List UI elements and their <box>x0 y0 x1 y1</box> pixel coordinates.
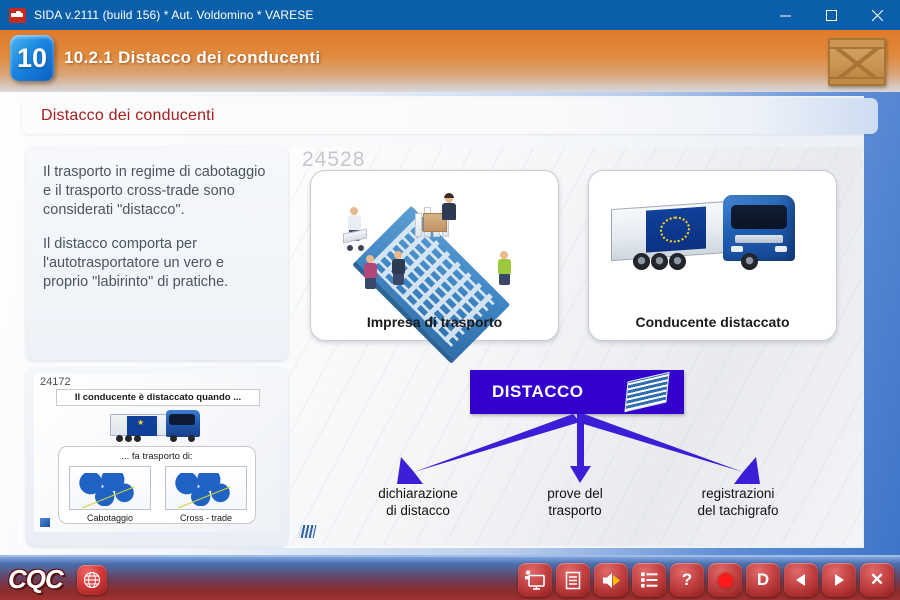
thumbnail-title: Il conducente è distaccato quando ... <box>56 389 260 406</box>
isometric-maze-office-icon <box>341 185 531 303</box>
thumbnail-slide[interactable]: 24172 Il conducente è distaccato quando … <box>34 374 280 532</box>
card-impresa-di-trasporto[interactable]: Impresa di trasporto <box>310 170 559 341</box>
section-title: Distacco dei conducenti <box>41 107 215 125</box>
index-list-button[interactable] <box>632 563 666 597</box>
record-dot-icon <box>718 573 733 588</box>
hand-cart-icon <box>343 231 371 251</box>
thumbnail-id: 24172 <box>40 376 71 388</box>
card-label: Conducente distaccato <box>589 314 836 330</box>
thumbnail-panel[interactable]: 24172 Il conducente è distaccato quando … <box>26 368 288 546</box>
green-shirt-figure <box>497 251 511 285</box>
title-bar: SIDA v.2111 (build 156) * Aut. Voldomino… <box>0 0 900 30</box>
mini-map-cross-trade: Cross - trade <box>165 466 247 523</box>
branch-label-2: prove del trasporto <box>500 485 650 519</box>
branch-line-2: del tachigrafo <box>697 503 778 518</box>
presentation-button[interactable] <box>518 563 552 597</box>
text-paragraph-2: Il distacco comporta per l'autotrasporta… <box>43 235 272 292</box>
section-title-bar: Distacco dei conducenti <box>22 98 878 134</box>
demo-button[interactable]: D <box>746 563 780 597</box>
grille <box>735 235 783 243</box>
mini-map-label: Cross - trade <box>165 513 247 523</box>
document-button[interactable] <box>556 563 590 597</box>
wheels-group <box>110 435 202 442</box>
cqc-logo: CQC <box>8 564 63 595</box>
globe-icon[interactable] <box>77 565 107 595</box>
branch-line-2: trasporto <box>548 503 601 518</box>
maximize-button[interactable] <box>808 0 854 30</box>
card-conducente-distaccato[interactable]: Conducente distaccato <box>588 170 837 341</box>
eu-flag-icon <box>127 416 157 436</box>
maze-badge-icon <box>40 518 50 527</box>
headlight-right <box>775 246 787 252</box>
businessman-figure <box>441 195 457 221</box>
wooden-crate-icon <box>828 38 886 86</box>
branch-line-1: dichiarazione <box>378 486 458 501</box>
headlight-left <box>731 246 743 252</box>
maze-badge-icon <box>299 525 317 538</box>
crate-bottom-plank <box>830 77 884 84</box>
chapter-number-badge: 10 <box>10 35 54 81</box>
bottom-toolbar: CQC <box>0 555 900 600</box>
toolbar-buttons: ? D ✕ <box>518 563 894 597</box>
chapter-header: 10 10.2.1 Distacco dei conducenti <box>0 30 900 92</box>
thumbnail-maps: Cabotaggio Cross - trade <box>69 466 247 523</box>
europe-map-icon <box>165 466 247 510</box>
next-button[interactable] <box>822 563 856 597</box>
slide-stage: 24528 <box>290 147 863 546</box>
truck-icon <box>9 8 26 23</box>
mini-map-label: Cabotaggio <box>69 513 151 523</box>
help-button[interactable]: ? <box>670 563 704 597</box>
cab-shape <box>166 410 200 437</box>
wheels-group <box>623 253 799 271</box>
thumbnail-subpanel: ... fa trasporto di: Cabotaggio Cross - … <box>58 446 256 524</box>
thumbnail-truck-icon <box>110 410 206 444</box>
thumbnail-subtitle: ... fa trasporto di: <box>59 451 255 462</box>
distacco-diagram: DISTACCO dichiarazione di distacco prove… <box>290 365 863 535</box>
minimize-button[interactable] <box>762 0 808 30</box>
maze-center-group <box>415 195 461 235</box>
window-title: SIDA v.2111 (build 156) * Aut. Voldomino… <box>34 8 314 22</box>
branch-line-1: registrazioni <box>702 486 775 501</box>
card-label: Impresa di trasporto <box>311 314 558 330</box>
windshield <box>731 205 787 229</box>
text-paragraph-1: Il trasporto in regime di cabotaggio e i… <box>43 163 272 220</box>
crate-top-plank <box>830 40 884 49</box>
trailer-shape <box>110 414 168 436</box>
branch-line-2: di distacco <box>386 503 450 518</box>
close-button[interactable] <box>854 0 900 30</box>
eu-truck-icon <box>611 193 816 301</box>
page-title: 10.2.1 Distacco dei conducenti <box>64 48 321 68</box>
man-figure <box>391 251 405 285</box>
record-button[interactable] <box>708 563 742 597</box>
eu-flag-icon <box>646 206 706 252</box>
europe-map-icon <box>69 466 151 510</box>
application-window: SIDA v.2111 (build 156) * Aut. Voldomino… <box>0 0 900 600</box>
previous-button[interactable] <box>784 563 818 597</box>
woman-figure <box>363 255 377 289</box>
close-app-button[interactable]: ✕ <box>860 563 894 597</box>
branch-label-3: registrazioni del tachigrafo <box>648 485 828 519</box>
window-controls <box>762 0 900 30</box>
branch-label-1: dichiarazione di distacco <box>338 485 498 519</box>
slide-id: 24528 <box>302 148 365 172</box>
text-panel: Il trasporto in regime di cabotaggio e i… <box>26 147 288 360</box>
branch-line-1: prove del <box>547 486 603 501</box>
mini-map-cabotaggio: Cabotaggio <box>69 466 151 523</box>
speaker-button[interactable] <box>594 563 628 597</box>
cab-shape <box>723 195 795 261</box>
